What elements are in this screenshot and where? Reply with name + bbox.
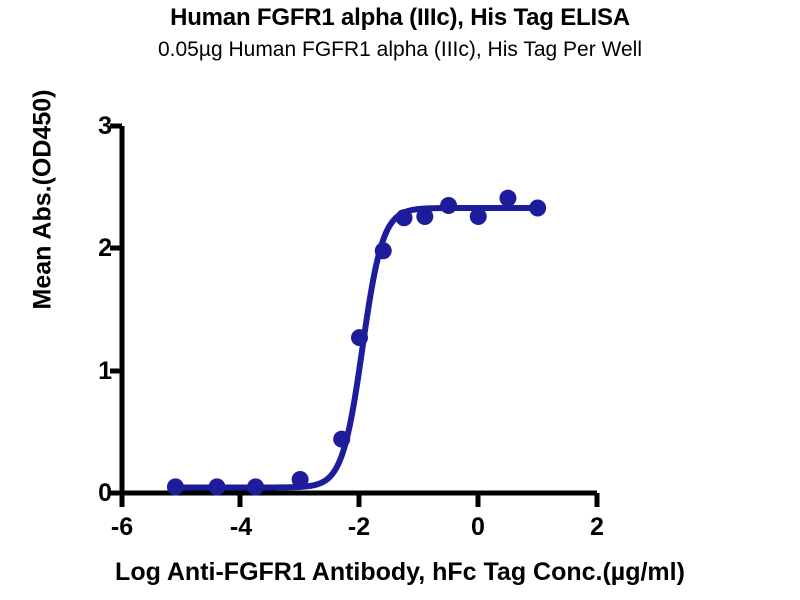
- axes: [110, 126, 597, 507]
- data-point: [470, 208, 487, 225]
- data-point: [375, 242, 392, 259]
- data-point: [416, 208, 433, 225]
- data-point: [209, 478, 226, 495]
- plot-area: [0, 0, 800, 600]
- data-point-group: [167, 190, 546, 496]
- data-point: [529, 199, 546, 216]
- data-point: [167, 478, 184, 495]
- data-point: [333, 431, 350, 448]
- chart-figure: Human FGFR1 alpha (IIIc), His Tag ELISA …: [0, 0, 800, 600]
- data-point: [396, 209, 413, 226]
- data-point: [440, 197, 457, 214]
- data-point: [351, 329, 368, 346]
- data-point: [292, 471, 309, 488]
- data-point: [499, 190, 516, 207]
- data-point: [247, 478, 264, 495]
- fitted-curve: [175, 208, 537, 488]
